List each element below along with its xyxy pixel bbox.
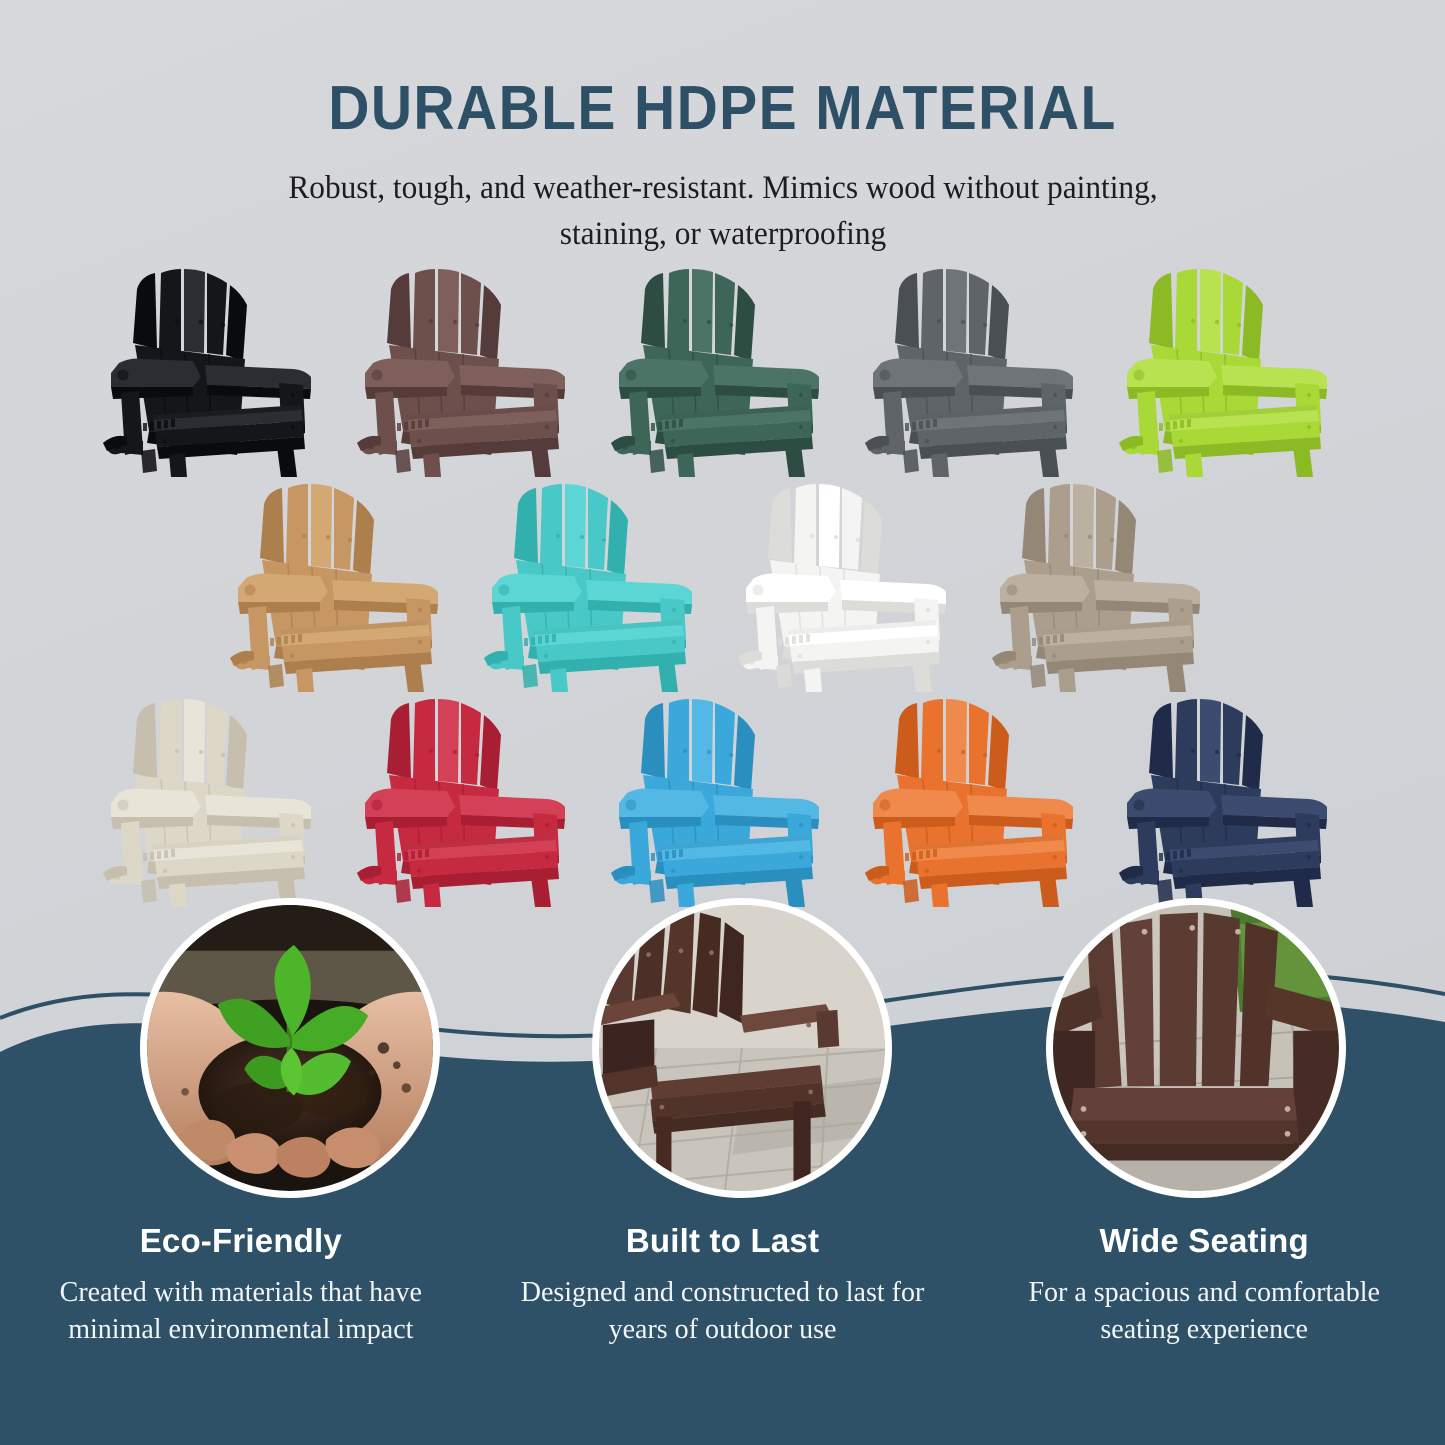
feature-image-eco-friendly bbox=[140, 898, 440, 1198]
feature-body-1: Created with materials that have minimal… bbox=[26, 1274, 456, 1348]
feature-block-1: Eco-Friendly Created with materials that… bbox=[0, 1222, 482, 1348]
chair-swatch-navy[interactable] bbox=[1107, 692, 1355, 907]
chair-swatch-orange[interactable] bbox=[853, 692, 1101, 907]
chair-row-3 bbox=[0, 692, 1445, 907]
adirondack-chair-weathered-wood[interactable] bbox=[986, 480, 1222, 692]
chair-row-2 bbox=[0, 477, 1445, 692]
chair-body bbox=[484, 484, 692, 692]
feature-heading-2: Built to Last bbox=[508, 1222, 938, 1260]
chair-body bbox=[992, 484, 1200, 692]
feature-block-2: Built to Last Designed and constructed t… bbox=[482, 1222, 964, 1348]
chair-body bbox=[357, 699, 565, 907]
chair-swatch-turquoise[interactable] bbox=[472, 477, 720, 692]
chair-body bbox=[738, 484, 946, 692]
feature-block-3: Wide Seating For a spacious and comforta… bbox=[963, 1222, 1445, 1348]
chair-body bbox=[865, 269, 1073, 477]
chair-swatch-black[interactable] bbox=[91, 262, 339, 477]
feature-heading-1: Eco-Friendly bbox=[26, 1222, 456, 1260]
chair-swatch-lime-green[interactable] bbox=[1107, 262, 1355, 477]
chair-body bbox=[865, 699, 1073, 907]
adirondack-chair-dark-green[interactable] bbox=[605, 265, 841, 477]
chair-swatch-ivory-beige[interactable] bbox=[91, 692, 339, 907]
chair-body bbox=[230, 484, 438, 692]
page-title: DURABLE HDPE MATERIAL bbox=[58, 0, 1387, 140]
chair-swatch-gray[interactable] bbox=[853, 262, 1101, 477]
chair-body bbox=[1119, 699, 1327, 907]
chair-body bbox=[1119, 269, 1327, 477]
adirondack-chair-brown[interactable] bbox=[351, 265, 587, 477]
adirondack-chair-lime-green[interactable] bbox=[1113, 265, 1349, 477]
chair-body bbox=[611, 269, 819, 477]
adirondack-chair-navy[interactable] bbox=[1113, 695, 1349, 907]
adirondack-chair-sky-blue[interactable] bbox=[605, 695, 841, 907]
chair-swatch-dark-green[interactable] bbox=[599, 262, 847, 477]
seedling-in-hands-icon bbox=[147, 905, 433, 1191]
brown-chair-patio-icon bbox=[599, 905, 885, 1191]
adirondack-chair-teak[interactable] bbox=[224, 480, 460, 692]
adirondack-chair-red[interactable] bbox=[351, 695, 587, 907]
wide-seat-closeup-icon bbox=[1053, 905, 1339, 1191]
chair-swatch-red[interactable] bbox=[345, 692, 593, 907]
chair-swatch-weathered-wood[interactable] bbox=[980, 477, 1228, 692]
adirondack-chair-orange[interactable] bbox=[859, 695, 1095, 907]
chair-swatch-teak[interactable] bbox=[218, 477, 466, 692]
adirondack-chair-black[interactable] bbox=[97, 265, 333, 477]
chair-color-grid bbox=[0, 262, 1445, 907]
chair-body bbox=[611, 699, 819, 907]
feature-image-built-to-last bbox=[592, 898, 892, 1198]
feature-text-row: Eco-Friendly Created with materials that… bbox=[0, 1222, 1445, 1348]
adirondack-chair-white[interactable] bbox=[732, 480, 968, 692]
infographic-canvas: DURABLE HDPE MATERIAL Robust, tough, and… bbox=[0, 0, 1445, 1445]
chair-body bbox=[103, 699, 311, 907]
feature-body-3: For a spacious and comfortable seating e… bbox=[989, 1274, 1419, 1348]
chair-row-1 bbox=[0, 262, 1445, 477]
adirondack-chair-ivory-beige[interactable] bbox=[97, 695, 333, 907]
chair-body bbox=[103, 269, 311, 477]
adirondack-chair-gray[interactable] bbox=[859, 265, 1095, 477]
feature-heading-3: Wide Seating bbox=[989, 1222, 1419, 1260]
adirondack-chair-turquoise[interactable] bbox=[478, 480, 714, 692]
feature-body-2: Designed and constructed to last for yea… bbox=[508, 1274, 938, 1348]
chair-body bbox=[357, 269, 565, 477]
page-subtitle: Robust, tough, and weather-resistant. Mi… bbox=[248, 140, 1198, 257]
chair-swatch-white[interactable] bbox=[726, 477, 974, 692]
header: DURABLE HDPE MATERIAL Robust, tough, and… bbox=[0, 0, 1445, 257]
feature-images bbox=[0, 888, 1445, 1218]
chair-swatch-sky-blue[interactable] bbox=[599, 692, 847, 907]
feature-image-wide-seating bbox=[1046, 898, 1346, 1198]
chair-swatch-brown[interactable] bbox=[345, 262, 593, 477]
